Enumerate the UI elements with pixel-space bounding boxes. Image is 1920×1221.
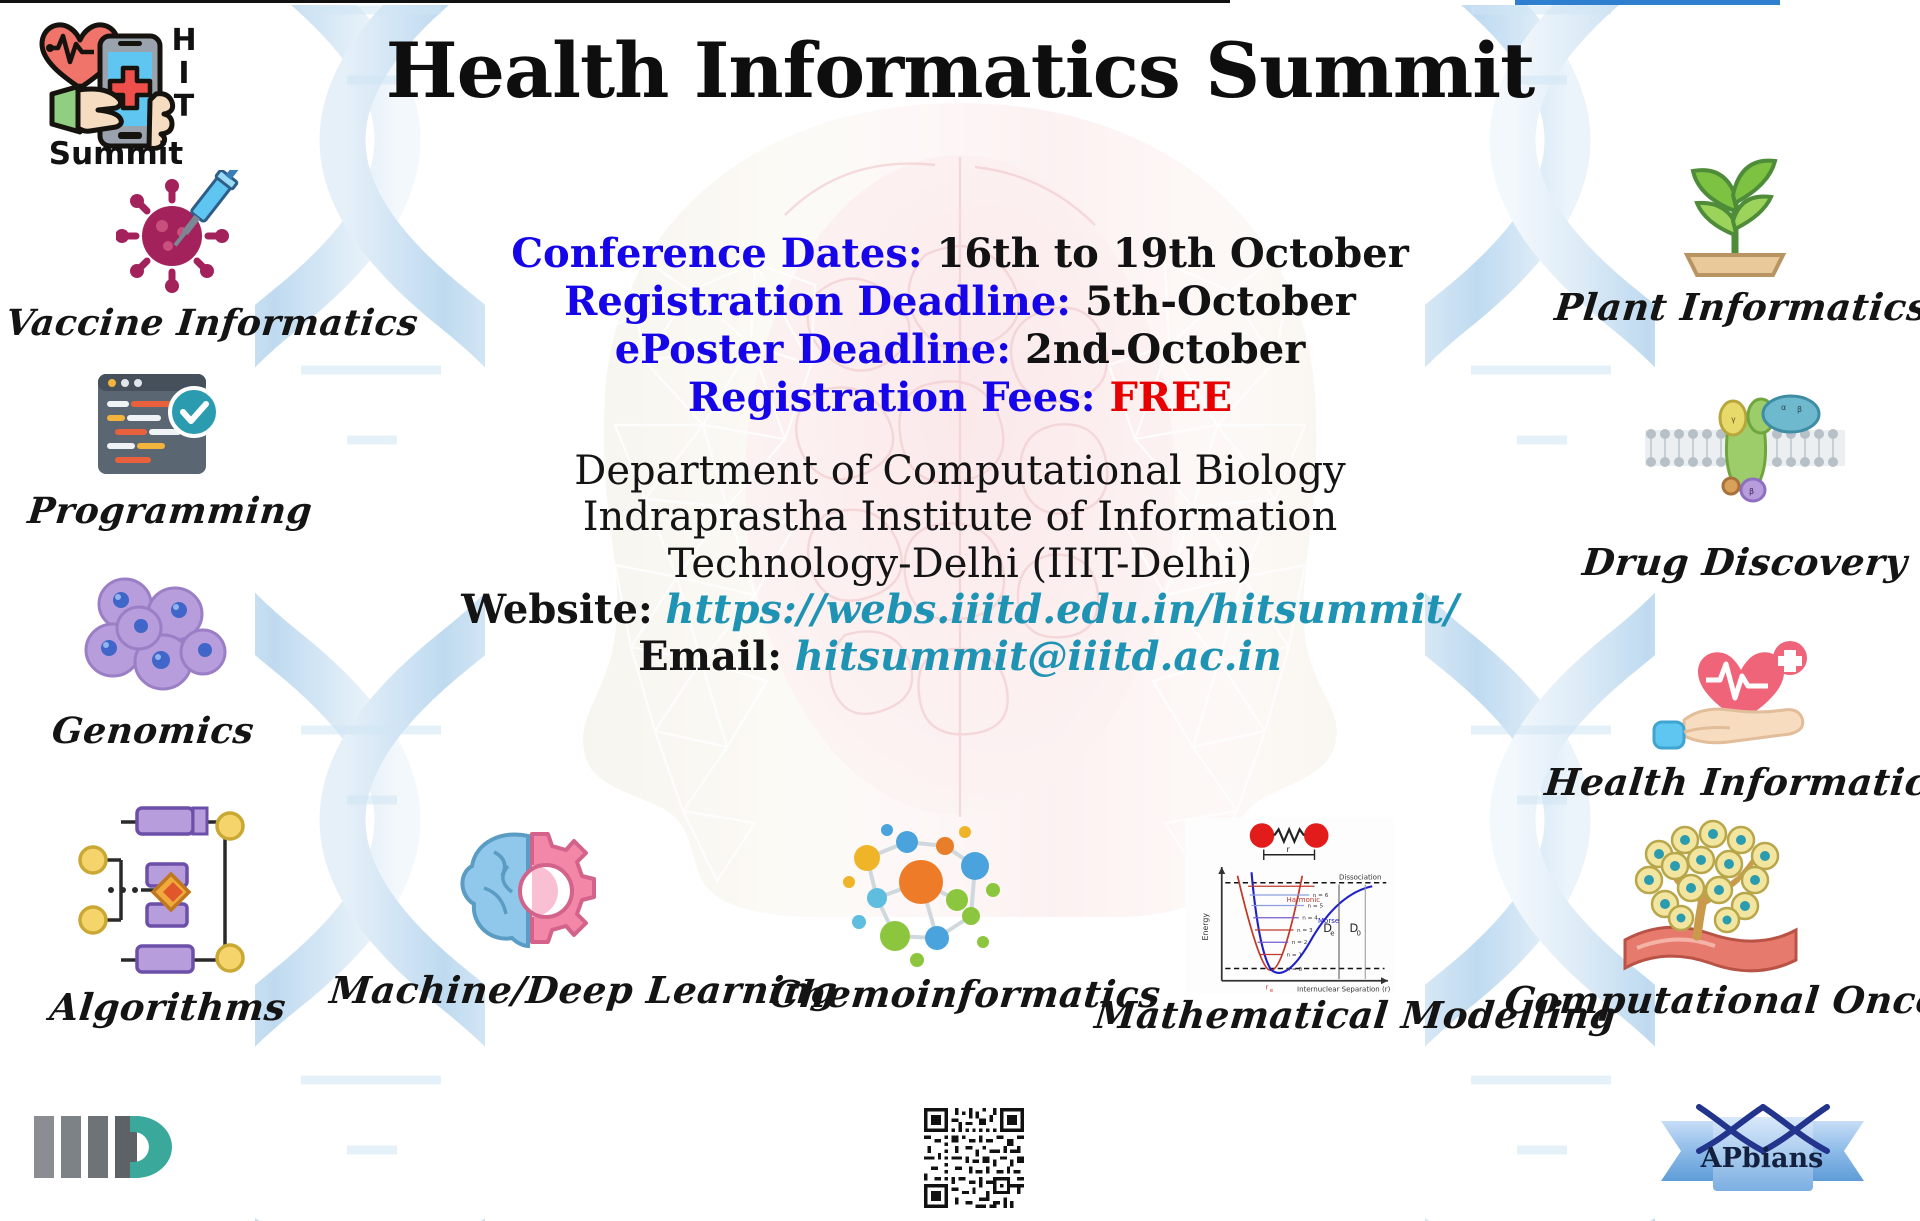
svg-text:0: 0: [1357, 929, 1361, 937]
svg-text:γ: γ: [1731, 415, 1736, 424]
topic-caption: Health Informatics: [1543, 760, 1918, 804]
topic-caption: Chemoinformatics: [768, 972, 1083, 1016]
svg-text:Energy: Energy: [1201, 913, 1210, 941]
detail-label: Registration Deadline:: [564, 278, 1071, 325]
svg-text:n = 5: n = 5: [1308, 903, 1324, 909]
brain-gear-icon: [450, 818, 610, 968]
molecule-network-icon: [825, 812, 1025, 972]
svg-text:e: e: [1330, 929, 1334, 937]
topic-machine-deep-learning[interactable]: Machine/Deep Learning: [330, 818, 730, 1012]
svg-text:Dissociation: Dissociation: [1339, 873, 1381, 881]
iiitd-mark-icon: [34, 1108, 204, 1188]
email-row: Email: hitsummit@iiitd.ac.in: [400, 634, 1520, 680]
topic-health-informatics[interactable]: Health Informatics: [1545, 640, 1915, 804]
topic-algorithms[interactable]: Algorithms: [50, 800, 270, 1029]
svg-text:n = 6: n = 6: [1313, 893, 1329, 899]
topic-programming[interactable]: Programming: [28, 368, 288, 532]
center-info-block: Conference Dates: 16th to 19th October R…: [400, 230, 1520, 680]
apbians-ribbon-icon: APbians: [1655, 1095, 1870, 1205]
iiitd-logo: [34, 1108, 204, 1193]
topic-caption: Vaccine Informatics: [4, 302, 358, 344]
svg-text:r: r: [1266, 984, 1269, 992]
svg-text:n = 0: n = 0: [1287, 967, 1303, 973]
svg-text:n = 4: n = 4: [1302, 916, 1318, 922]
topic-caption: Programming: [26, 490, 290, 532]
website-label: Website:: [461, 586, 652, 633]
svg-text:n = 2: n = 2: [1292, 940, 1308, 946]
organizer-block: Department of Computational Biology Indr…: [400, 448, 1520, 680]
poster-canvas: H I T Summit Health Informatics Summit C…: [0, 0, 1920, 1221]
hit-summit-word: Summit: [36, 136, 196, 172]
detail-row: Registration Fees: FREE: [400, 374, 1520, 422]
code-window-icon: [92, 368, 224, 490]
hit-letters: H I T: [166, 24, 202, 123]
detail-label: Conference Dates:: [511, 230, 922, 277]
topic-caption: Drug Discovery: [1573, 540, 1918, 584]
top-rule-right: [1515, 0, 1780, 5]
hit-summit-logo: H I T Summit: [18, 8, 228, 168]
detail-value: 16th to 19th October: [937, 230, 1409, 277]
qr-code-icon: [919, 1108, 1029, 1208]
summit-details: Conference Dates: 16th to 19th October R…: [400, 230, 1520, 422]
topic-caption: Genomics: [36, 710, 270, 752]
detail-row: Registration Deadline: 5th-October: [400, 278, 1520, 326]
svg-text:β: β: [1749, 487, 1754, 496]
top-rule-left: [0, 0, 1230, 3]
topic-caption: Plant Informatics: [1553, 285, 1918, 329]
apbians-logo: APbians: [1655, 1095, 1870, 1210]
topic-drug-discovery[interactable]: αβ β γ Drug Discovery: [1575, 390, 1915, 584]
topic-vaccine-informatics[interactable]: Vaccine Informatics: [6, 170, 356, 344]
topic-computational-oncology[interactable]: Computational Oncology: [1505, 818, 1915, 1022]
org-line-3: Technology-Delhi (IIIT-Delhi): [400, 541, 1520, 587]
topic-genomics[interactable]: Genomics: [38, 570, 268, 752]
heart-in-hand-icon: [1640, 640, 1820, 760]
topic-chemoinformatics[interactable]: Chemoinformatics: [770, 812, 1080, 1016]
cells-cluster-icon: [73, 570, 233, 710]
svg-text:Internuclear Separation (r): Internuclear Separation (r): [1297, 985, 1391, 993]
topic-mathematical-modelling[interactable]: r Energy Internuclear Separation (r) Dis…: [1095, 818, 1485, 1037]
detail-row: ePoster Deadline: 2nd-October: [400, 326, 1520, 374]
hit-letter-t: T: [166, 90, 202, 123]
apbians-wordmark: APbians: [1700, 1143, 1824, 1174]
tumor-tree-icon: [1623, 818, 1798, 978]
hit-letter-i: I: [166, 57, 202, 90]
morse-potential-chart-icon: r Energy Internuclear Separation (r) Dis…: [1185, 818, 1395, 993]
detail-value: 2nd-October: [1025, 326, 1305, 373]
svg-text:β: β: [1797, 405, 1802, 414]
website-row: Website: https://webs.iiitd.edu.in/hitsu…: [400, 587, 1520, 633]
flowchart-icon: [75, 800, 245, 985]
org-line-1: Department of Computational Biology: [400, 448, 1520, 494]
virus-syringe-icon: [116, 170, 246, 300]
detail-value: 5th-October: [1085, 278, 1356, 325]
org-line-2: Indraprastha Institute of Information: [400, 494, 1520, 540]
topic-caption: Mathematical Modelling: [1093, 993, 1488, 1037]
plant-sprout-icon: [1665, 155, 1805, 285]
top-edge-strip: [0, 0, 1920, 5]
topic-caption: Computational Oncology: [1503, 978, 1918, 1022]
svg-text:α: α: [1781, 403, 1786, 412]
membrane-protein-icon: αβ β γ: [1645, 390, 1845, 540]
email-link[interactable]: hitsummit@iiitd.ac.in: [795, 633, 1282, 680]
registration-fee-value: FREE: [1109, 374, 1232, 421]
page-title: Health Informatics Summit: [0, 26, 1920, 115]
topic-plant-informatics[interactable]: Plant Informatics: [1555, 155, 1915, 329]
website-link[interactable]: https://webs.iiitd.edu.in/hitsummit/: [665, 586, 1458, 633]
detail-label: Registration Fees:: [688, 374, 1096, 421]
detail-row: Conference Dates: 16th to 19th October: [400, 230, 1520, 278]
topic-caption: Algorithms: [48, 985, 273, 1029]
svg-text:n = 1: n = 1: [1287, 952, 1303, 958]
detail-label: ePoster Deadline:: [615, 326, 1011, 373]
hit-letter-h: H: [166, 24, 202, 57]
topic-caption: Machine/Deep Learning: [328, 968, 733, 1012]
svg-text:n = 3: n = 3: [1297, 928, 1313, 934]
email-label: Email:: [638, 633, 782, 680]
qr-code[interactable]: [919, 1108, 1029, 1213]
